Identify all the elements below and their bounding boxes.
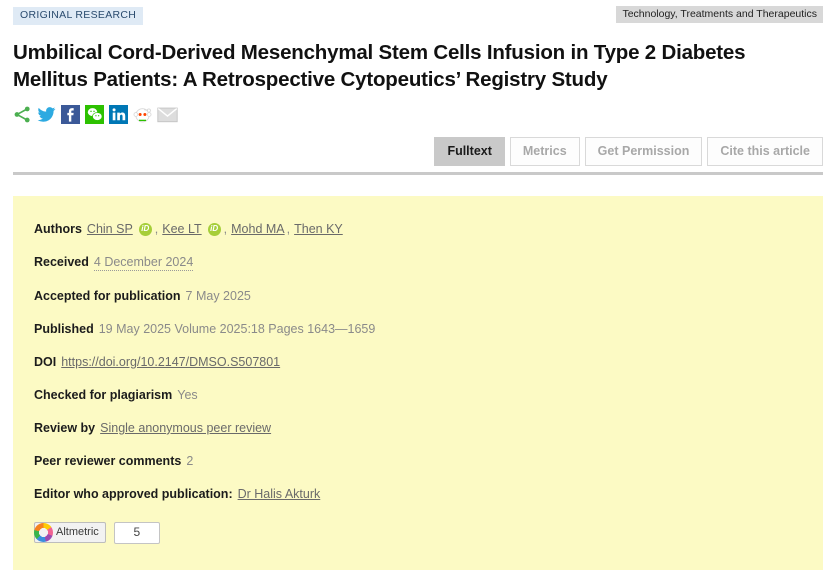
metadata-row-comments: Peer reviewer comments 2 [34, 454, 823, 469]
peer-reviewer-comments-label: Peer reviewer comments [34, 454, 181, 469]
article-metadata-panel: Authors Chin SP iD, Kee LT iD, Mohd MA, … [13, 196, 823, 570]
tab-metrics[interactable]: Metrics [510, 137, 580, 166]
share-icon[interactable] [13, 105, 32, 124]
metadata-row-plagiarism: Checked for plagiarism Yes [34, 388, 823, 403]
metadata-row-authors: Authors Chin SP iD, Kee LT iD, Mohd MA, … [34, 222, 823, 237]
altmetric-donut-icon [34, 523, 53, 542]
doi-label: DOI [34, 355, 56, 370]
review-label: Review by [34, 421, 95, 436]
altmetric-row: Altmetric 5 [34, 522, 823, 544]
metadata-row-published: Published 19 May 2025 Volume 2025:18 Pag… [34, 322, 823, 337]
twitter-icon[interactable] [37, 105, 56, 124]
peer-reviewer-comments-value: 2 [186, 454, 193, 469]
altmetric-score[interactable]: 5 [114, 522, 160, 544]
doi-link[interactable]: https://doi.org/10.2147/DMSO.S507801 [61, 355, 280, 370]
altmetric-badge[interactable]: Altmetric [34, 522, 106, 543]
article-tab-bar: Fulltext Metrics Get Permission Cite thi… [0, 137, 834, 167]
authors-list: Chin SP iD, Kee LT iD, Mohd MA, Then KY [87, 222, 345, 237]
tab-cite-this-article[interactable]: Cite this article [707, 137, 823, 166]
tab-fulltext[interactable]: Fulltext [434, 137, 504, 166]
metadata-row-review: Review by Single anonymous peer review [34, 421, 823, 436]
review-type-link[interactable]: Single anonymous peer review [100, 421, 271, 436]
metadata-row-received: Received 4 December 2024 [34, 255, 823, 271]
received-value[interactable]: 4 December 2024 [94, 255, 193, 271]
editor-link[interactable]: Dr Halis Akturk [238, 487, 321, 502]
editor-label: Editor who approved publication: [34, 487, 233, 502]
author-link-3[interactable]: Then KY [294, 222, 343, 237]
page-title: Umbilical Cord-Derived Mesenchymal Stem … [13, 39, 813, 94]
plagiarism-value: Yes [177, 388, 197, 403]
reddit-icon[interactable] [133, 105, 152, 124]
tabs-container: Fulltext Metrics Get Permission Cite thi… [434, 137, 823, 166]
received-label: Received [34, 255, 89, 270]
metadata-row-editor: Editor who approved publication: Dr Hali… [34, 487, 823, 502]
author-link-0[interactable]: Chin SP [87, 222, 133, 237]
social-share-bar [13, 103, 834, 127]
published-label: Published [34, 322, 94, 337]
author-link-1[interactable]: Kee LT [162, 222, 201, 237]
wechat-icon[interactable] [85, 105, 104, 124]
facebook-icon[interactable] [61, 105, 80, 124]
article-type-badge[interactable]: ORIGINAL RESEARCH [13, 7, 143, 25]
journal-section-badge[interactable]: Technology, Treatments and Therapeutics [616, 6, 823, 23]
orcid-icon[interactable]: iD [208, 223, 221, 236]
published-value: 19 May 2025 Volume 2025:18 Pages 1643—16… [99, 322, 376, 337]
author-link-2[interactable]: Mohd MA [231, 222, 285, 237]
linkedin-icon[interactable] [109, 105, 128, 124]
metadata-row-doi: DOI https://doi.org/10.2147/DMSO.S507801 [34, 355, 823, 370]
authors-label: Authors [34, 222, 82, 237]
altmetric-label: Altmetric [56, 527, 99, 538]
email-icon[interactable] [157, 105, 178, 124]
orcid-icon[interactable]: iD [139, 223, 152, 236]
header-divider [13, 172, 823, 175]
metadata-row-accepted: Accepted for publication 7 May 2025 [34, 289, 823, 304]
accepted-label: Accepted for publication [34, 289, 181, 304]
article-tag-row: ORIGINAL RESEARCH Technology, Treatments… [0, 7, 834, 29]
accepted-value: 7 May 2025 [186, 289, 251, 304]
plagiarism-label: Checked for plagiarism [34, 388, 172, 403]
tab-get-permission[interactable]: Get Permission [585, 137, 703, 166]
